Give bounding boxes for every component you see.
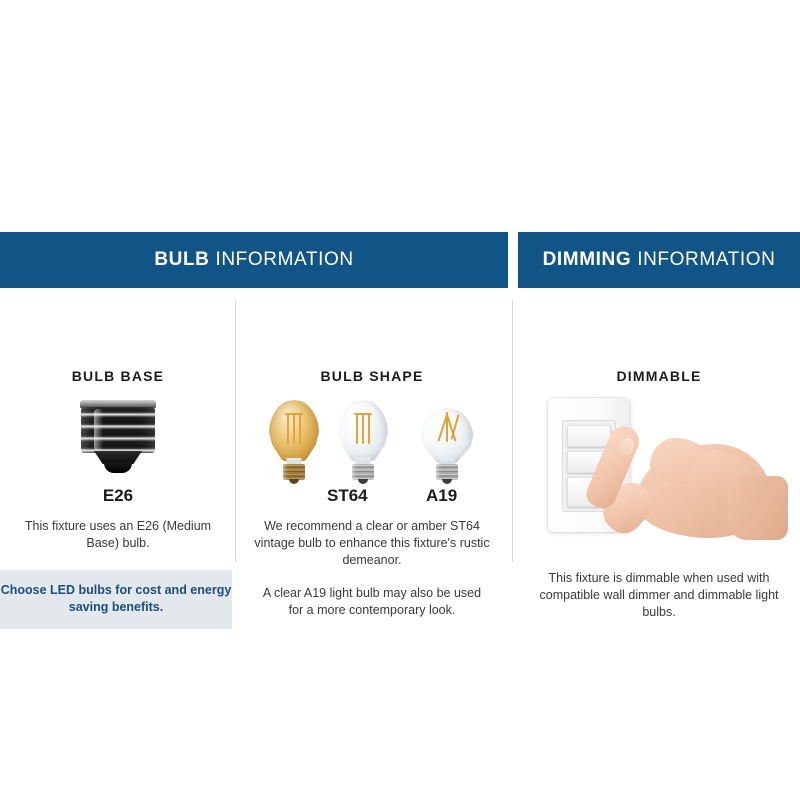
bulb-information-header: BULB INFORMATION [0, 232, 508, 288]
bulb-shape-description-2: A clear A19 light bulb may also be used … [254, 585, 490, 619]
panel-gap [508, 288, 518, 629]
bulb-base-description: This fixture uses an E26 (Medium Base) b… [19, 518, 217, 552]
dimming-information-header: DIMMING INFORMATION [518, 232, 800, 288]
bulb-base-label-row: E26 [0, 486, 236, 506]
dimming-header-light-text: INFORMATION [637, 249, 775, 271]
fingernail-shape [616, 435, 637, 458]
a19-label: A19 [426, 486, 457, 506]
bulb-shape-column: BULB SHAPE [236, 288, 508, 629]
bulb-and-dimming-info-block: BULB INFORMATION DIMMING INFORMATION BUL… [0, 232, 800, 629]
dimmable-description: This fixture is dimmable when used with … [539, 570, 779, 621]
bulb-shape-label-row: ST64 A19 [236, 486, 508, 506]
wall-dimmer-switch-with-hand-icon [518, 390, 800, 540]
a19-clear-bulb-icon [420, 392, 474, 484]
hand-illustration [592, 420, 782, 540]
bulb-shape-description-1: We recommend a clear or amber ST64 vinta… [254, 518, 490, 569]
dimmable-title: DIMMABLE [518, 368, 800, 384]
dimmable-column: DIMMABLE [518, 288, 800, 629]
bulb-header-light-text: INFORMATION [215, 249, 353, 271]
wrist-shape [728, 476, 788, 540]
bulb-base-title: BULB BASE [0, 368, 236, 384]
bulb-base-label: E26 [103, 486, 133, 506]
header-gap-divider [508, 232, 518, 288]
bulb-shape-title: BULB SHAPE [236, 368, 508, 384]
st64-clear-bulb-icon [337, 392, 389, 484]
st64-label: ST64 [327, 486, 368, 506]
st64-amber-bulb-icon [268, 392, 320, 484]
bulb-shape-artwork [236, 392, 508, 484]
panel-headers-row: BULB INFORMATION DIMMING INFORMATION [0, 232, 800, 288]
bulb-header-bold-text: BULB [154, 249, 209, 271]
info-columns: BULB BASE E26 This fixture uses an E26 (… [0, 288, 800, 629]
dimming-header-bold-text: DIMMING [543, 249, 632, 271]
led-callout-box: Choose LED bulbs for cost and energy sav… [0, 570, 232, 629]
